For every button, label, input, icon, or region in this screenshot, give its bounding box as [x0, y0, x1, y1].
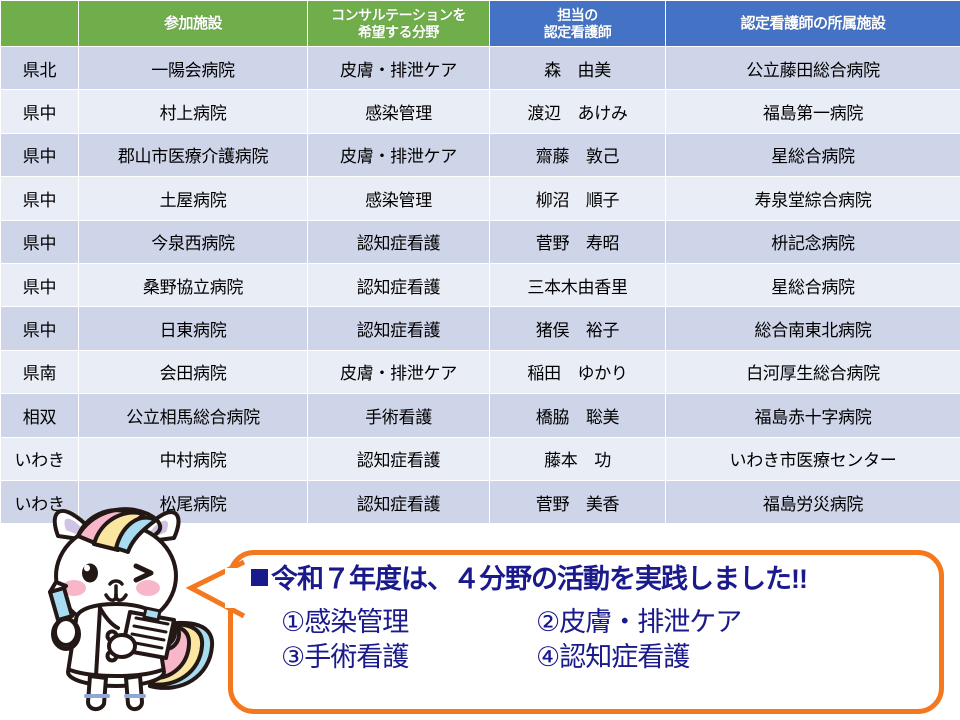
cell-facility: 今泉西病院: [79, 220, 308, 263]
cell-field: 感染管理: [308, 90, 490, 133]
table-header-row: 参加施設 コンサルテーションを 希望する分野 担当の 認定看護師 認定看護師の所…: [1, 1, 960, 47]
cell-field: 認知症看護: [308, 307, 490, 350]
table-body: 県北一陽会病院皮膚・排泄ケア森 由美公立藤田総合病院県中村上病院感染管理渡辺 あ…: [1, 47, 960, 524]
cell-area: 県中: [1, 307, 79, 350]
column-header-assigned-nurse: 担当の 認定看護師: [490, 1, 666, 47]
cell-affiliation: 寿泉堂綜合病院: [666, 177, 960, 220]
cell-facility: 公立相馬総合病院: [79, 394, 308, 437]
cell-affiliation: いわき市医療センター: [666, 437, 960, 480]
cell-nurse: 齋藤 敦己: [490, 133, 666, 176]
cell-affiliation: 枡記念病院: [666, 220, 960, 263]
cell-nurse: 稲田 ゆかり: [490, 350, 666, 393]
cell-affiliation: 星総合病院: [666, 263, 960, 306]
column-header-consultation-field-line2: 希望する分野: [310, 24, 487, 40]
table-row: 県中村上病院感染管理渡辺 あけみ福島第一病院: [1, 90, 960, 133]
cell-affiliation: 総合南東北病院: [666, 307, 960, 350]
cell-affiliation: 公立藤田総合病院: [666, 47, 960, 90]
cell-facility: 一陽会病院: [79, 47, 308, 90]
table-row: 県中今泉西病院認知症看護菅野 寿昭枡記念病院: [1, 220, 960, 263]
table-row: 県南会田病院皮膚・排泄ケア稲田 ゆかり白河厚生総合病院: [1, 350, 960, 393]
cell-facility: 村上病院: [79, 90, 308, 133]
cell-area: 県中: [1, 90, 79, 133]
cell-field: 認知症看護: [308, 220, 490, 263]
column-header-area: [1, 1, 79, 47]
callout-field-item-1: ①感染管理: [281, 605, 536, 640]
cell-affiliation: 福島労災病院: [666, 480, 960, 523]
cell-area: 県南: [1, 350, 79, 393]
callout-field-item-2: ②皮膚・排泄ケア: [536, 605, 791, 640]
participating-facilities-table-wrapper: 参加施設 コンサルテーションを 希望する分野 担当の 認定看護師 認定看護師の所…: [0, 0, 960, 524]
table-row: 県中郡山市医療介護病院皮膚・排泄ケア齋藤 敦己星総合病院: [1, 133, 960, 176]
cell-nurse: 三本木由香里: [490, 263, 666, 306]
participating-facilities-table: 参加施設 コンサルテーションを 希望する分野 担当の 認定看護師 認定看護師の所…: [0, 0, 960, 524]
cell-nurse: 橋脇 聡美: [490, 394, 666, 437]
callout-headline: 令和７年度は、４分野の活動を実践しました!!: [251, 565, 927, 595]
cell-nurse: 菅野 寿昭: [490, 220, 666, 263]
column-header-facility: 参加施設: [79, 1, 308, 47]
cell-field: 認知症看護: [308, 437, 490, 480]
bullet-square-icon: [251, 569, 268, 586]
cell-facility: 日東病院: [79, 307, 308, 350]
cell-field: 皮膚・排泄ケア: [308, 47, 490, 90]
cell-field: 認知症看護: [308, 263, 490, 306]
cell-field: 感染管理: [308, 177, 490, 220]
cell-nurse: 柳沼 順子: [490, 177, 666, 220]
cell-nurse: 藤本 功: [490, 437, 666, 480]
cell-field: 認知症看護: [308, 480, 490, 523]
cell-affiliation: 白河厚生総合病院: [666, 350, 960, 393]
callout-field-row: ③手術看護 ④認知症看護: [281, 640, 927, 675]
cell-area: 県中: [1, 220, 79, 263]
column-header-nurse-affiliation: 認定看護師の所属施設: [666, 1, 960, 47]
cell-area: 県中: [1, 177, 79, 220]
column-header-consultation-field: コンサルテーションを 希望する分野: [308, 1, 490, 47]
cell-affiliation: 福島赤十字病院: [666, 394, 960, 437]
callout-content: 令和７年度は、４分野の活動を実践しました!! ①感染管理 ②皮膚・排泄ケア ③手…: [233, 555, 939, 675]
cell-affiliation: 福島第一病院: [666, 90, 960, 133]
callout-headline-text: 令和７年度は、４分野の活動を実践しました!!: [271, 564, 807, 594]
cell-facility: 土屋病院: [79, 177, 308, 220]
cell-area: いわき: [1, 437, 79, 480]
table-row: 県中桑野協立病院認知症看護三本木由香里星総合病院: [1, 263, 960, 306]
nurse-cat-mascot-icon: [14, 500, 236, 720]
callout-field-list: ①感染管理 ②皮膚・排泄ケア ③手術看護 ④認知症看護: [251, 605, 927, 675]
table-header: 参加施設 コンサルテーションを 希望する分野 担当の 認定看護師 認定看護師の所…: [1, 1, 960, 47]
table-row: いわき中村病院認知症看護藤本 功いわき市医療センター: [1, 437, 960, 480]
cell-facility: 会田病院: [79, 350, 308, 393]
cell-area: 県北: [1, 47, 79, 90]
callout-field-item-3: ③手術看護: [281, 640, 536, 675]
cell-nurse: 森 由美: [490, 47, 666, 90]
table-row: 県中日東病院認知症看護猪俣 裕子総合南東北病院: [1, 307, 960, 350]
column-header-consultation-field-line1: コンサルテーションを: [310, 7, 487, 23]
cell-nurse: 猪俣 裕子: [490, 307, 666, 350]
table-row: 県中土屋病院感染管理柳沼 順子寿泉堂綜合病院: [1, 177, 960, 220]
cell-area: 県中: [1, 263, 79, 306]
cell-affiliation: 星総合病院: [666, 133, 960, 176]
cell-facility: 郡山市医療介護病院: [79, 133, 308, 176]
callout-bubble: 令和７年度は、４分野の活動を実践しました!! ①感染管理 ②皮膚・排泄ケア ③手…: [228, 550, 944, 714]
cell-field: 皮膚・排泄ケア: [308, 133, 490, 176]
slide-canvas: 参加施設 コンサルテーションを 希望する分野 担当の 認定看護師 認定看護師の所…: [0, 0, 960, 720]
table-row: 相双公立相馬総合病院手術看護橋脇 聡美福島赤十字病院: [1, 394, 960, 437]
cell-facility: 中村病院: [79, 437, 308, 480]
callout-field-item-4: ④認知症看護: [536, 640, 791, 675]
cell-field: 手術看護: [308, 394, 490, 437]
cell-area: 県中: [1, 133, 79, 176]
cell-nurse: 渡辺 あけみ: [490, 90, 666, 133]
column-header-assigned-nurse-line2: 認定看護師: [492, 24, 663, 40]
callout-field-row: ①感染管理 ②皮膚・排泄ケア: [281, 605, 927, 640]
cell-area: 相双: [1, 394, 79, 437]
table-row: 県北一陽会病院皮膚・排泄ケア森 由美公立藤田総合病院: [1, 47, 960, 90]
cell-facility: 桑野協立病院: [79, 263, 308, 306]
cell-nurse: 菅野 美香: [490, 480, 666, 523]
cell-field: 皮膚・排泄ケア: [308, 350, 490, 393]
column-header-assigned-nurse-line1: 担当の: [492, 7, 663, 23]
